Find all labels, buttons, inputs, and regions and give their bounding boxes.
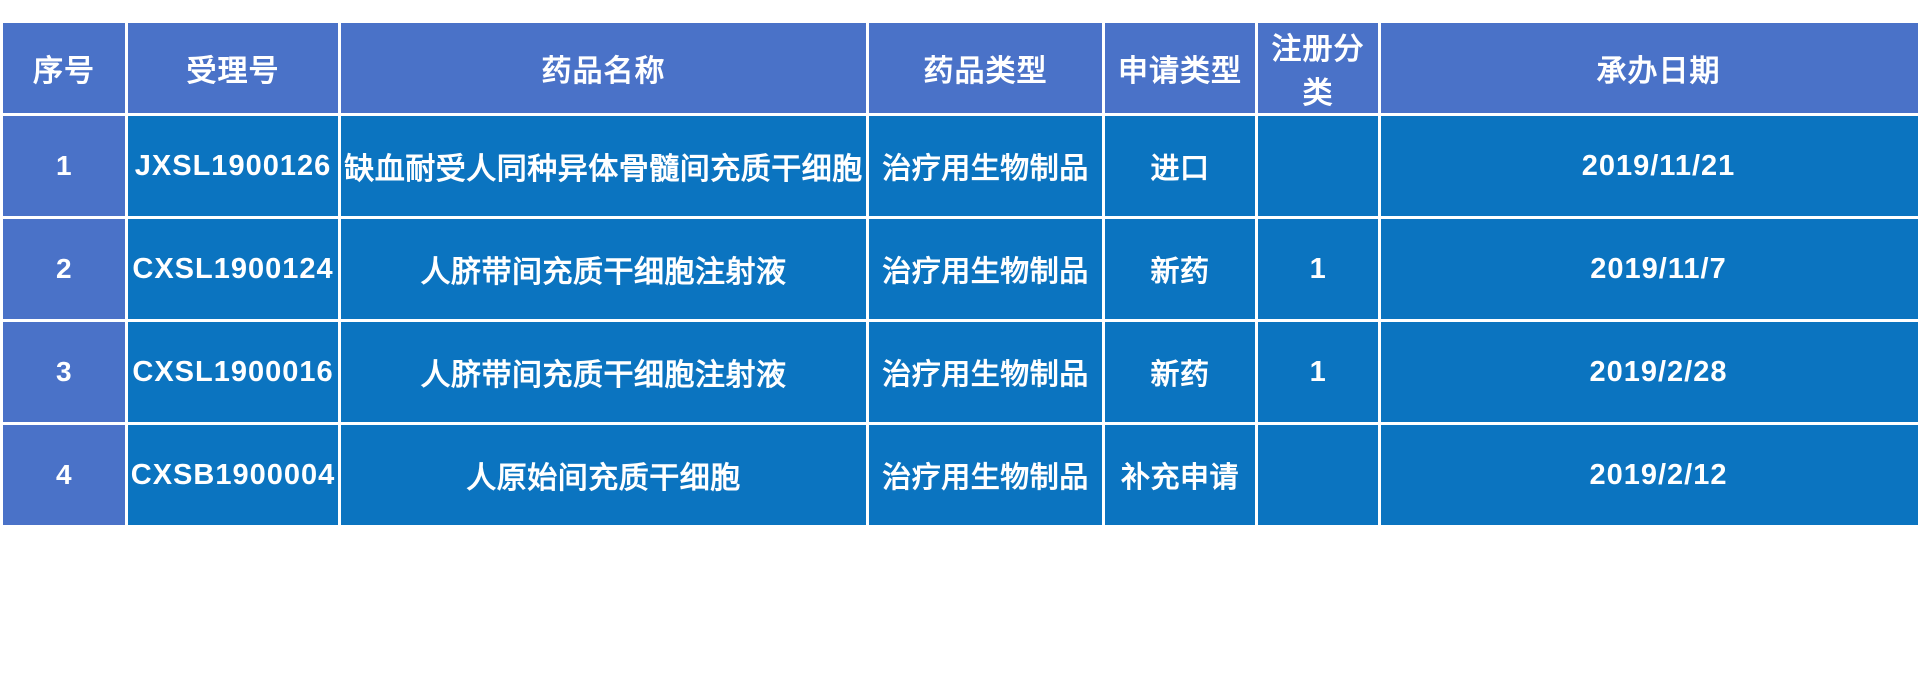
cell-reg-class: 1: [1258, 219, 1378, 319]
cell-drug-name: 人原始间充质干细胞: [341, 425, 866, 525]
cell-index: 1: [3, 116, 125, 216]
column-header-app-type[interactable]: 申请类型: [1105, 23, 1255, 113]
cell-drug-name: 人脐带间充质干细胞注射液: [341, 219, 866, 319]
table-row: 1 JXSL1900126 缺血耐受人同种异体骨髓间充质干细胞 治疗用生物制品 …: [3, 116, 1918, 216]
cell-app-type: 进口: [1105, 116, 1255, 216]
table-header: 序号 受理号 药品名称 药品类型 申请类型 注册分类 承办日期: [3, 23, 1918, 113]
cell-index: 4: [3, 425, 125, 525]
table-header-row: 序号 受理号 药品名称 药品类型 申请类型 注册分类 承办日期: [3, 23, 1918, 113]
cell-index: 3: [3, 322, 125, 422]
cell-date: 2019/11/21: [1381, 116, 1918, 216]
cell-date: 2019/11/7: [1381, 219, 1918, 319]
cell-acceptance: JXSL1900126: [128, 116, 338, 216]
column-header-index[interactable]: 序号: [3, 23, 125, 113]
cell-drug-name: 人脐带间充质干细胞注射液: [341, 322, 866, 422]
cell-drug-type: 治疗用生物制品: [869, 219, 1102, 319]
table-row: 3 CXSL1900016 人脐带间充质干细胞注射液 治疗用生物制品 新药 1 …: [3, 322, 1918, 422]
cell-reg-class: [1258, 425, 1378, 525]
cell-app-type: 新药: [1105, 322, 1255, 422]
cell-app-type: 补充申请: [1105, 425, 1255, 525]
cell-app-type: 新药: [1105, 219, 1255, 319]
column-header-drug-type[interactable]: 药品类型: [869, 23, 1102, 113]
registration-table-container: 序号 受理号 药品名称 药品类型 申请类型 注册分类 承办日期 1 JXSL19…: [0, 20, 1918, 528]
table-row: 2 CXSL1900124 人脐带间充质干细胞注射液 治疗用生物制品 新药 1 …: [3, 219, 1918, 319]
cell-index: 2: [3, 219, 125, 319]
cell-reg-class: [1258, 116, 1378, 216]
cell-reg-class: 1: [1258, 322, 1378, 422]
table-body: 1 JXSL1900126 缺血耐受人同种异体骨髓间充质干细胞 治疗用生物制品 …: [3, 116, 1918, 525]
cell-drug-type: 治疗用生物制品: [869, 425, 1102, 525]
cell-drug-type: 治疗用生物制品: [869, 322, 1102, 422]
cell-date: 2019/2/28: [1381, 322, 1918, 422]
table-row: 4 CXSB1900004 人原始间充质干细胞 治疗用生物制品 补充申请 201…: [3, 425, 1918, 525]
drug-registration-table: 序号 受理号 药品名称 药品类型 申请类型 注册分类 承办日期 1 JXSL19…: [0, 20, 1918, 528]
column-header-date[interactable]: 承办日期: [1381, 23, 1918, 113]
column-header-acceptance[interactable]: 受理号: [128, 23, 338, 113]
cell-drug-type: 治疗用生物制品: [869, 116, 1102, 216]
column-header-drug-name[interactable]: 药品名称: [341, 23, 866, 113]
column-header-reg-class[interactable]: 注册分类: [1258, 23, 1378, 113]
cell-acceptance: CXSL1900016: [128, 322, 338, 422]
cell-date: 2019/2/12: [1381, 425, 1918, 525]
page-root: 序号 受理号 药品名称 药品类型 申请类型 注册分类 承办日期 1 JXSL19…: [0, 0, 1918, 692]
cell-acceptance: CXSL1900124: [128, 219, 338, 319]
cell-drug-name: 缺血耐受人同种异体骨髓间充质干细胞: [341, 116, 866, 216]
cell-acceptance: CXSB1900004: [128, 425, 338, 525]
